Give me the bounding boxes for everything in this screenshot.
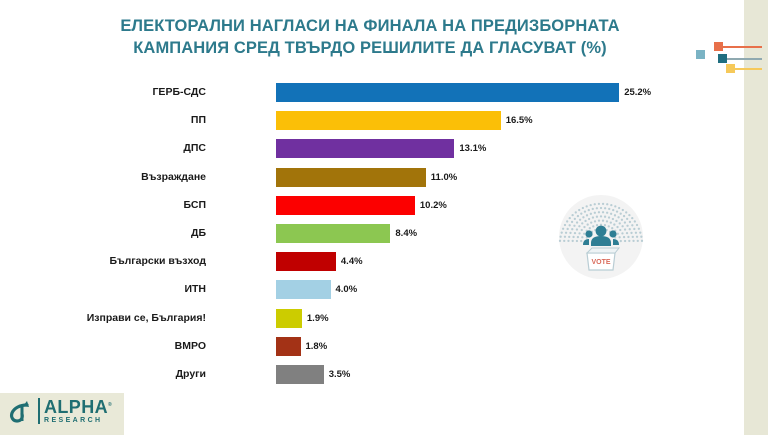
chart-row: ДБ8.4% <box>0 223 700 251</box>
page-title-line-1: ЕЛЕКТОРАЛНИ НАГЛАСИ НА ФИНАЛА НА ПРЕДИЗБ… <box>60 16 680 38</box>
logo-registered-mark: ® <box>108 402 112 408</box>
page-title: ЕЛЕКТОРАЛНИ НАГЛАСИ НА ФИНАЛА НА ПРЕДИЗБ… <box>60 16 680 60</box>
decorative-line <box>723 46 762 48</box>
chart-row: ГЕРБ-СДС25.2% <box>0 82 700 110</box>
decorative-square <box>718 54 727 63</box>
bar-category-label: ДБ <box>0 223 206 244</box>
bar-category-label: Други <box>0 364 206 385</box>
alpha-mark-icon <box>6 398 34 424</box>
bar-value-label: 8.4% <box>395 223 417 244</box>
bar-segment <box>276 309 302 328</box>
bar-category-label: ВМРО <box>0 336 206 357</box>
bar-category-label: ПП <box>0 110 206 131</box>
alpha-research-logo: ALPHA® RESEARCH <box>0 393 124 435</box>
bar-segment <box>276 252 336 271</box>
logo-alpha-text: ALPHA® <box>44 398 112 416</box>
chart-row: БСП10.2% <box>0 195 700 223</box>
chart-row: Български възход4.4% <box>0 251 700 279</box>
bar-category-label: Изправи се, България! <box>0 308 206 329</box>
bar-category-label: ИТН <box>0 279 206 300</box>
bar-value-label: 25.2% <box>624 82 651 103</box>
bar-category-label: ГЕРБ-СДС <box>0 82 206 103</box>
decorative-square <box>696 50 705 59</box>
page-title-line-2: КАМПАНИЯ СРЕД ТВЪРДО РЕШИЛИТЕ ДА ГЛАСУВА… <box>60 38 680 60</box>
logo-research-text: RESEARCH <box>44 417 112 424</box>
chart-row: ДПС13.1% <box>0 138 700 166</box>
decorative-square <box>726 64 735 73</box>
bar-category-label: Български възход <box>0 251 206 272</box>
chart-row: ПП16.5% <box>0 110 700 138</box>
decorative-line <box>727 58 762 60</box>
decorative-square <box>714 42 723 51</box>
bar-segment <box>276 111 501 130</box>
bar-segment <box>276 224 390 243</box>
bar-segment <box>276 365 324 384</box>
bar-value-label: 11.0% <box>431 167 457 188</box>
bar-value-label: 10.2% <box>420 195 447 216</box>
bar-category-label: БСП <box>0 195 206 216</box>
bar-segment <box>276 280 331 299</box>
decorative-bars-icon <box>696 40 762 78</box>
bar-value-label: 16.5% <box>506 110 533 131</box>
bar-chart: ГЕРБ-СДС25.2%ПП16.5%ДПС13.1%Възраждане11… <box>0 82 700 392</box>
bar-value-label: 1.8% <box>306 336 328 357</box>
bar-segment <box>276 139 454 158</box>
chart-row: ВМРО1.8% <box>0 336 700 364</box>
bar-segment <box>276 83 619 102</box>
chart-row: Изправи се, България!1.9% <box>0 308 700 336</box>
chart-row: Възраждане11.0% <box>0 167 700 195</box>
bar-value-label: 4.0% <box>336 279 358 300</box>
bar-category-label: ДПС <box>0 138 206 159</box>
slide-canvas: ЕЛЕКТОРАЛНИ НАГЛАСИ НА ФИНАЛА НА ПРЕДИЗБ… <box>0 0 768 435</box>
bar-value-label: 1.9% <box>307 308 329 329</box>
bar-value-label: 13.1% <box>459 138 486 159</box>
bar-segment <box>276 168 426 187</box>
bar-segment <box>276 337 301 356</box>
chart-row: ИТН4.0% <box>0 279 700 307</box>
decorative-line <box>735 68 762 70</box>
bar-value-label: 4.4% <box>341 251 363 272</box>
bar-category-label: Възраждане <box>0 167 206 188</box>
chart-row: Други3.5% <box>0 364 700 392</box>
bar-value-label: 3.5% <box>329 364 351 385</box>
bar-segment <box>276 196 415 215</box>
